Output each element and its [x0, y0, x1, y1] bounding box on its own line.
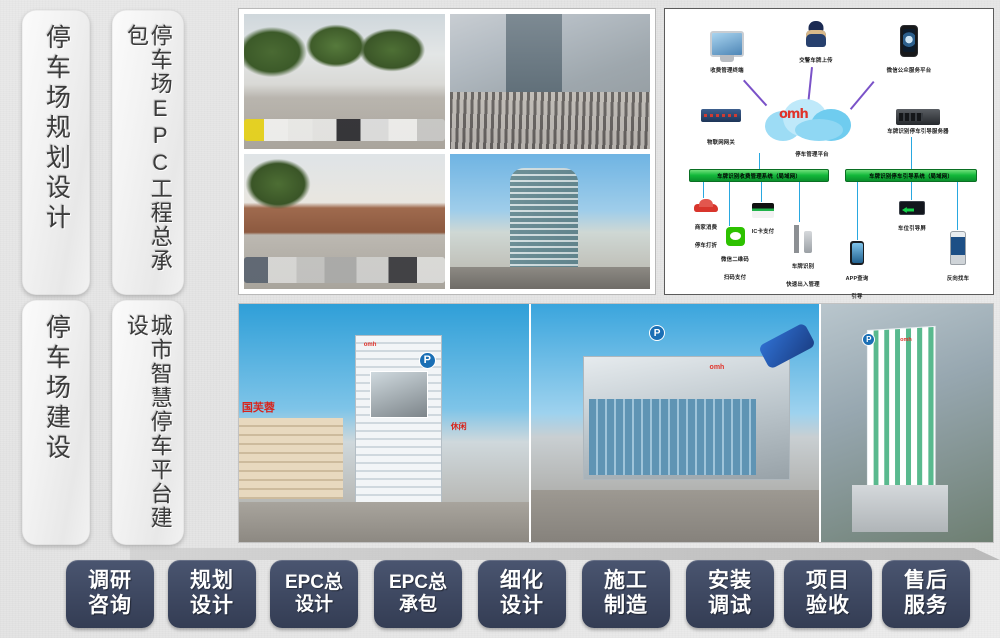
- connector-line: [743, 80, 767, 107]
- photo-collage: [238, 8, 656, 295]
- step-line-1: 售后: [904, 569, 948, 594]
- photo-aerial-parking-view: [450, 14, 651, 149]
- parking-p-sign: P: [649, 325, 665, 341]
- sidebar-item-label: 停车场建设: [43, 314, 70, 464]
- node-label: 微信公众服务平台: [887, 68, 932, 74]
- process-step-construction-manufacturing[interactable]: 施工 制造: [582, 560, 670, 628]
- step-line-1: EPC总: [389, 572, 447, 594]
- step-line-2: 调试: [708, 594, 752, 619]
- step-line-2: 服务: [904, 594, 948, 619]
- omh-logo: omh: [364, 342, 377, 348]
- omh-logo: omh: [779, 107, 808, 122]
- step-line-1: EPC总: [285, 572, 343, 594]
- signboard-text: 休闲: [451, 421, 467, 432]
- sidebar-item-label: 停车场EPC工程总承包: [124, 24, 172, 295]
- step-line-1: 项目: [806, 569, 850, 594]
- wechat-icon: [726, 227, 745, 246]
- rendering-garage-building: P omh: [531, 304, 819, 542]
- connector-line: [911, 182, 912, 200]
- device-ic-card-payment: IC卡支付: [745, 203, 781, 238]
- process-step-survey-consulting[interactable]: 调研 咨询: [66, 560, 154, 628]
- connector-line: [957, 182, 958, 230]
- system-bar-toll-management: 车牌识别收费管理系统（局域网）: [689, 169, 829, 182]
- connector-line: [761, 182, 762, 202]
- sidebar-item-parking-epc-contracting[interactable]: 停车场EPC工程总承包: [112, 10, 184, 295]
- connector-line: [729, 182, 730, 226]
- step-line-1: 调研: [88, 569, 132, 594]
- process-step-installation-commissioning[interactable]: 安装 调试: [686, 560, 774, 628]
- node-label: 停车管理平台: [795, 152, 829, 158]
- process-step-epc-contracting[interactable]: EPC总 承包: [374, 560, 462, 628]
- app-phone-icon: [850, 241, 864, 265]
- device-label: 反向找车: [947, 276, 969, 282]
- smartphone-icon: [900, 25, 918, 57]
- billboard: [370, 371, 428, 419]
- rendering-parking-tower: P omh 国芙蓉 休闲: [239, 304, 529, 542]
- node-plate-recognition-guide-server: 车牌识别停车引导服务器: [875, 109, 961, 136]
- main-content: 收费管理终端 交警车牌上传 微信公众服务平台 物联网网关 车牌识别停车引导服务器: [238, 8, 994, 543]
- ground-plane: [531, 490, 819, 542]
- rendering-band: P omh 国芙蓉 休闲 P omh P omh: [238, 303, 994, 543]
- ground-plane: [239, 502, 529, 542]
- node-parking-management-platform: 停车管理平台: [775, 143, 849, 161]
- photo-street-parking-lot: [244, 14, 445, 149]
- step-line-2: 设计: [295, 594, 333, 616]
- system-bar-label: 车牌识别停车引导系统（局域网）: [869, 172, 953, 180]
- step-line-1: 规划: [190, 569, 234, 594]
- node-label: 车牌识别停车引导服务器: [875, 129, 961, 136]
- barrier-gate-icon: [792, 223, 814, 253]
- process-step-after-sales-service[interactable]: 售后 服务: [882, 560, 970, 628]
- sidebar-item-label: 城市智慧停车平台建设: [124, 314, 172, 545]
- node-wechat-public-service: 微信公众服务平台: [871, 25, 947, 77]
- sidebar-item-parking-construction[interactable]: 停车场建设: [22, 300, 90, 545]
- omh-logo: omh: [900, 337, 912, 343]
- sidebar-item-label: 停车场规划设计: [43, 24, 70, 234]
- connector-line: [857, 182, 858, 240]
- sidebar: 停车场规划设计 停车场EPC工程总承包 停车场建设 城市智慧停车平台建设: [0, 0, 200, 548]
- node-traffic-police-upload: 交警车牌上传: [787, 21, 845, 67]
- step-line-2: 咨询: [88, 594, 132, 619]
- device-label: 车位引导屏: [898, 226, 926, 232]
- step-line-1: 施工: [604, 569, 648, 594]
- led-guide-screen-icon: [899, 201, 925, 215]
- node-label: 收费管理终端: [710, 68, 744, 74]
- node-toll-management-terminal: 收费管理终端: [693, 31, 761, 77]
- sidebar-item-smart-parking-platform[interactable]: 城市智慧停车平台建设: [112, 300, 184, 545]
- device-label: 车牌识别 快速出入管理: [786, 264, 820, 288]
- device-label: 微信二维码 扫码支付: [721, 257, 749, 281]
- process-step-epc-design[interactable]: EPC总 设计: [270, 560, 358, 628]
- network-topology-diagram: 收费管理终端 交警车牌上传 微信公众服务平台 物联网网关 车牌识别停车引导服务器: [664, 8, 994, 295]
- top-band: 收费管理终端 交警车牌上传 微信公众服务平台 物联网网关 车牌识别停车引导服务器: [238, 8, 994, 295]
- signboard-text: 国芙蓉: [242, 399, 275, 415]
- node-label: 物联网网关: [689, 140, 753, 147]
- step-line-2: 承包: [399, 594, 437, 616]
- connector-line: [807, 67, 813, 101]
- kiosk-icon: [950, 231, 966, 265]
- step-line-2: 设计: [500, 594, 544, 619]
- node-label: 交警车牌上传: [799, 58, 833, 64]
- parking-p-sign: P: [862, 333, 875, 346]
- connector-line: [703, 182, 704, 198]
- connector-line: [911, 137, 912, 170]
- gateway-icon: [701, 109, 741, 122]
- device-plate-recognition-gate: 车牌识别 快速出入管理: [777, 223, 829, 291]
- device-parking-guide-screen: 车位引导屏: [891, 201, 933, 235]
- connector-line: [799, 182, 800, 222]
- system-bar-parking-guidance: 车牌识别停车引导系统（局域网）: [845, 169, 977, 182]
- cloud-platform-icon: omh: [765, 97, 857, 141]
- red-car-icon: [694, 199, 718, 214]
- step-line-1: 安装: [708, 569, 752, 594]
- step-line-2: 验收: [806, 594, 850, 619]
- step-line-1: 细化: [500, 569, 544, 594]
- connector-line: [759, 153, 760, 170]
- sidebar-item-parking-planning-design[interactable]: 停车场规划设计: [22, 10, 90, 295]
- photo-glass-office-tower: [450, 154, 651, 289]
- process-step-planning-design[interactable]: 规划 设计: [168, 560, 256, 628]
- process-step-detailed-design[interactable]: 细化 设计: [478, 560, 566, 628]
- ic-card-icon: [752, 203, 774, 218]
- step-line-2: 制造: [604, 594, 648, 619]
- step-line-2: 设计: [190, 594, 234, 619]
- photo-lot-with-brick-building: [244, 154, 445, 289]
- traffic-police-icon: [805, 21, 827, 47]
- device-reverse-car-finding: 反向找车: [937, 231, 979, 285]
- omh-logo: omh: [710, 364, 725, 371]
- monitor-icon: [710, 31, 744, 57]
- glass-facade: [589, 399, 756, 475]
- rendering-aerial-tower: P omh: [821, 304, 993, 542]
- process-step-project-acceptance[interactable]: 项目 验收: [784, 560, 872, 628]
- process-step-bar: 调研 咨询 规划 设计 EPC总 设计 EPC总 承包 细化 设计 施工 制造 …: [0, 548, 1000, 638]
- device-label: IC卡支付: [752, 229, 775, 235]
- low-rise-building: [239, 418, 343, 499]
- parking-p-sign: P: [419, 352, 436, 369]
- server-icon: [896, 109, 940, 125]
- plaza-ground: [852, 485, 948, 533]
- process-arrow-strip: [130, 548, 1000, 560]
- node-iot-gateway: 物联网网关: [689, 109, 753, 147]
- system-bar-label: 车牌识别收费管理系统（局域网）: [717, 172, 801, 180]
